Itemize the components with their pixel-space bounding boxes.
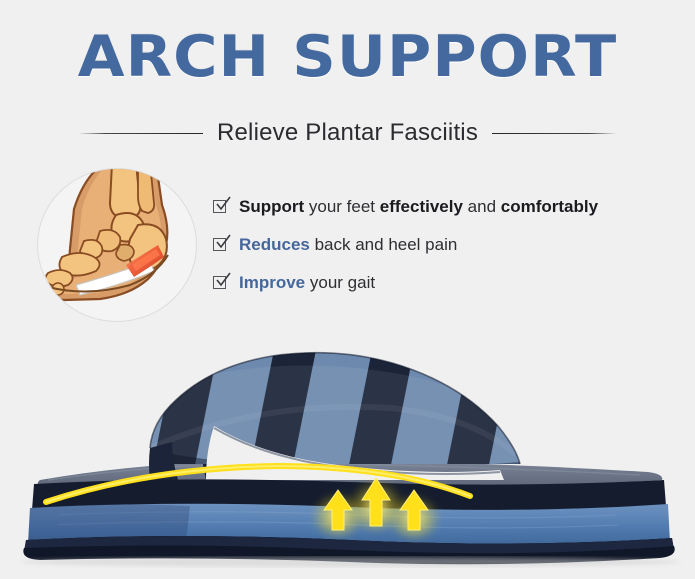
- page-title: ARCH SUPPORT: [0, 26, 695, 88]
- bullet-segment: Reduces: [239, 235, 310, 254]
- checkbox-checked-icon: [213, 237, 229, 253]
- bullet-segment: Support: [239, 197, 304, 216]
- list-item-text: Support your feet effectively and comfor…: [239, 196, 598, 217]
- list-item-text: Improve your gait: [239, 272, 375, 293]
- bullet-segment: effectively: [380, 197, 463, 216]
- bullet-segment: your feet: [304, 197, 380, 216]
- subtitle: Relieve Plantar Fasciitis: [217, 119, 478, 147]
- bullet-segment: and: [463, 197, 501, 216]
- list-item: Support your feet effectively and comfor…: [213, 196, 683, 217]
- bullet-segment: Improve: [239, 273, 305, 292]
- foot-anatomy-icon: [38, 169, 196, 321]
- ground-shadow: [20, 557, 680, 567]
- list-item: Reduces back and heel pain: [213, 234, 683, 255]
- divider-right: [492, 133, 617, 134]
- bone-cuboid: [116, 245, 134, 261]
- benefits-list: Support your feet effectively and comfor…: [213, 196, 683, 310]
- product-photo-flip-flop: [0, 330, 695, 579]
- bullet-segment: your gait: [305, 273, 375, 292]
- subtitle-row: Relieve Plantar Fasciitis: [0, 116, 695, 150]
- checkbox-checked-icon: [213, 199, 229, 215]
- promo-banner: ARCH SUPPORT Relieve Plantar Fasciitis: [0, 0, 695, 579]
- flip-flop-illustration: [0, 330, 695, 579]
- foot-anatomy-illustration: [37, 168, 197, 322]
- bullet-segment: comfortably: [501, 197, 598, 216]
- divider-left: [78, 133, 203, 134]
- checkbox-checked-icon: [213, 275, 229, 291]
- list-item: Improve your gait: [213, 272, 683, 293]
- bone-tibia: [110, 169, 140, 217]
- bullet-segment: back and heel pain: [310, 235, 457, 254]
- bone-fibula: [138, 169, 154, 213]
- list-item-text: Reduces back and heel pain: [239, 234, 457, 255]
